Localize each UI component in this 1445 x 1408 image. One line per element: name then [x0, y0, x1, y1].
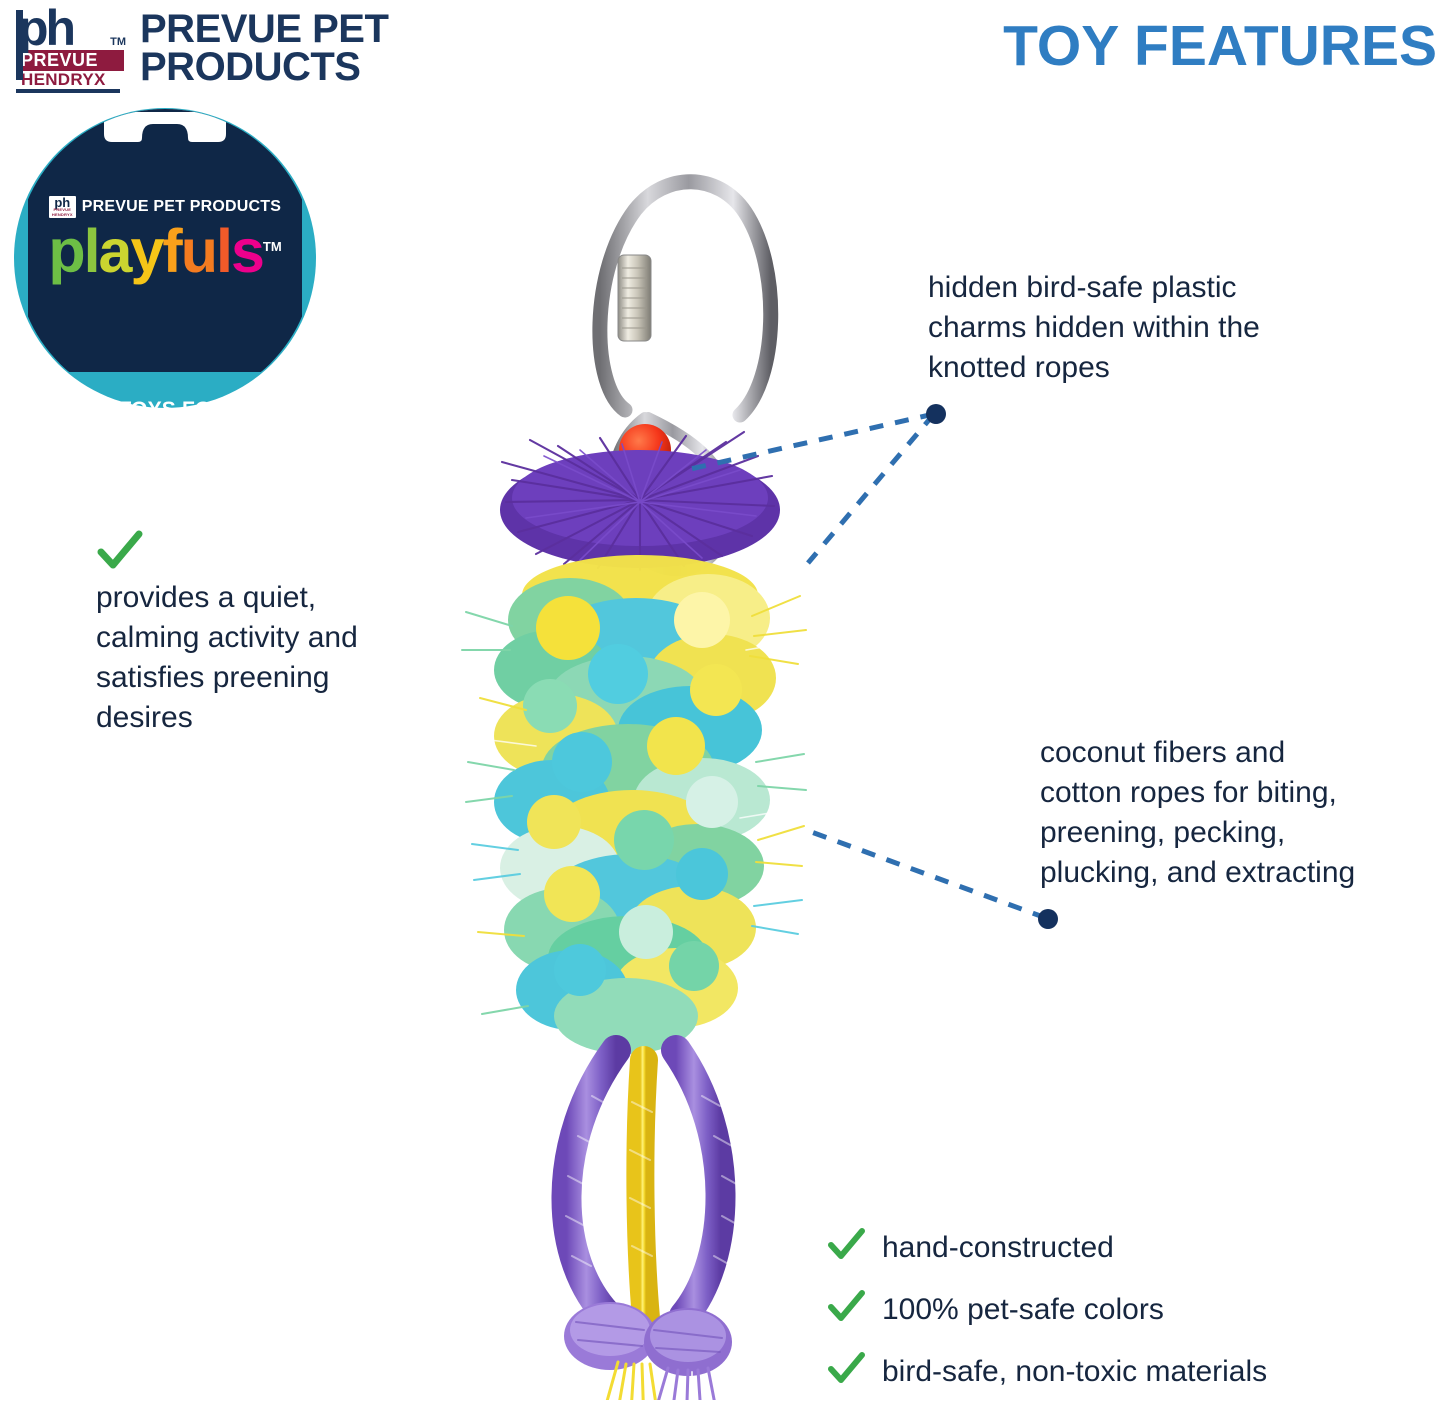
- badge-content: ph PREVUE HENDRYX PREVUE PET PRODUCTS pl…: [14, 108, 316, 408]
- callout-quiet-line-3: satisfies preening: [96, 658, 466, 698]
- playfuls-letter-7: s: [231, 220, 263, 282]
- playfuls-letter-0: p: [48, 220, 83, 282]
- badge-subtitle-fr: jouets d'action pour oiseaux: [14, 437, 316, 455]
- playfuls-letter-1: l: [84, 220, 99, 282]
- badge-mini-logo: ph PREVUE HENDRYX: [49, 196, 76, 218]
- badge-subtitle-translations: juguetes de acción para pájaros jouets d…: [14, 419, 316, 455]
- checklist-item-label: bird-safe, non-toxic materials: [882, 1352, 1267, 1392]
- callout-fibers-line-3: preening, pecking,: [1040, 813, 1445, 853]
- callout-quiet-line-1: provides a quiet,: [96, 578, 466, 618]
- checklist-item: 100% pet-safe colors: [828, 1290, 1408, 1330]
- brand-lockup: ph TM PREVUE HENDRYX PREVUE PET PRODUCTS: [16, 6, 388, 86]
- badge-prevue-pet-products: PREVUE PET PRODUCTS: [82, 198, 281, 216]
- checklist-item: hand-constructed: [828, 1228, 1408, 1268]
- callout-fibers: coconut fibers and cotton ropes for biti…: [1040, 733, 1445, 893]
- checklist-item-label: 100% pet-safe colors: [882, 1290, 1164, 1330]
- callout-fibers-line-2: cotton ropes for biting,: [1040, 773, 1445, 813]
- callout-charms-line-2: charms hidden within the: [928, 308, 1398, 348]
- callout-quiet-line-2: calming activity and: [96, 618, 466, 658]
- playfuls-badge: ph PREVUE HENDRYX PREVUE PET PRODUCTS pl…: [14, 108, 316, 408]
- feature-checklist: hand-constructed 100% pet-safe colors bi…: [828, 1228, 1408, 1392]
- callout-quiet: provides a quiet, calming activity and s…: [96, 530, 466, 738]
- playfuls-tm: TM: [263, 216, 282, 278]
- knotted-rope-body: [462, 555, 806, 1054]
- playfuls-letter-4: f: [162, 220, 180, 282]
- logo-bar: [16, 10, 23, 80]
- checklist-item-label: hand-constructed: [882, 1228, 1114, 1268]
- callout-charms: hidden bird-safe plastic charms hidden w…: [928, 268, 1398, 388]
- playfuls-letter-2: a: [99, 220, 131, 282]
- page-title: TOY FEATURES: [1003, 16, 1437, 76]
- callout-quiet-line-4: desires: [96, 698, 466, 738]
- playfuls-wordmark: playfulsTM: [14, 216, 316, 282]
- logo-hendryx-text: HENDRYX: [16, 71, 120, 93]
- callout-charms-line-1: hidden bird-safe plastic: [928, 268, 1398, 308]
- leader-dot-charms: [926, 404, 946, 424]
- playfuls-letter-6: l: [216, 220, 231, 282]
- purple-yellow-rope-loop: [564, 1050, 740, 1400]
- logo-tm: TM: [110, 36, 126, 48]
- carabiner-clip-icon: [600, 182, 771, 415]
- check-icon: [828, 1228, 866, 1262]
- logo-ph-letters: ph: [16, 6, 124, 50]
- badge-subtitle-es: juguetes de acción para pájaros: [14, 419, 316, 437]
- playfuls-letter-3: y: [130, 220, 162, 282]
- infographic-root: ph TM PREVUE HENDRYX PREVUE PET PRODUCTS: [0, 0, 1445, 1408]
- brand-name-line2: PRODUCTS: [140, 48, 388, 86]
- callout-fibers-line-4: plucking, and extracting: [1040, 853, 1445, 893]
- callout-charms-line-3: knotted ropes: [928, 348, 1398, 388]
- checklist-item: bird-safe, non-toxic materials: [828, 1352, 1408, 1392]
- brand-name: PREVUE PET PRODUCTS: [140, 6, 388, 86]
- check-icon: [96, 530, 144, 574]
- toy-illustration: [440, 150, 890, 1400]
- brand-name-line1: PREVUE PET: [140, 10, 388, 48]
- logo-prevue-text: PREVUE: [16, 50, 124, 71]
- check-icon: [828, 1290, 866, 1324]
- check-icon: [828, 1352, 866, 1386]
- badge-prevue-row: ph PREVUE HENDRYX PREVUE PET PRODUCTS: [14, 196, 316, 218]
- prevue-hendryx-logo-mark: ph TM PREVUE HENDRYX: [16, 6, 124, 84]
- callout-fibers-line-1: coconut fibers and: [1040, 733, 1445, 773]
- leader-dot-fibers: [1038, 909, 1058, 929]
- product-image: [440, 150, 890, 1400]
- playfuls-letter-5: u: [181, 220, 216, 282]
- purple-bristle-tassel: [500, 432, 780, 570]
